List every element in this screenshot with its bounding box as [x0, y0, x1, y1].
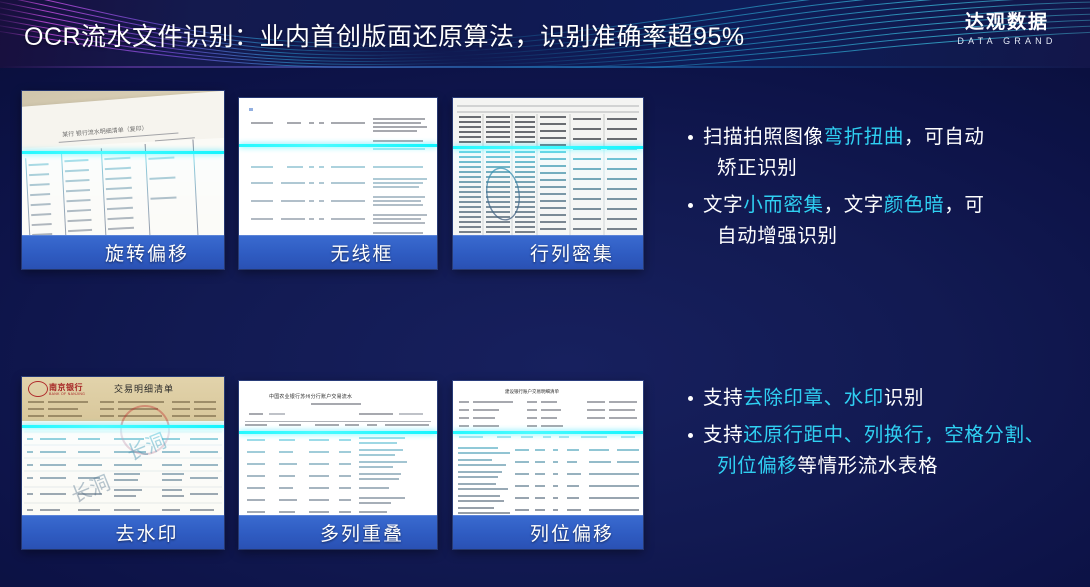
thumbnail-caption-4: 多列重叠 [239, 515, 437, 549]
thumbnail-card-4[interactable]: 中国农业银行苏州分行账户交易流水 [239, 381, 437, 549]
bullet-line: 支持还原行距中、列换行，空格分割、 [703, 420, 1076, 451]
thumbnail-caption-text-4: 多列重叠 [272, 519, 404, 546]
multi-col-title-mock: 中国农业银行苏州分行账户交易流水 [269, 393, 352, 400]
bullet-text: 扫描拍照图像 [703, 126, 824, 148]
thumbnail-card-2[interactable]: 行列密集 [453, 98, 643, 269]
brand-logo-en: DATA GRAND [942, 34, 1072, 48]
bullet-line: 支持去除印章、水印识别 [703, 383, 1076, 414]
slide-header: OCR流水文件识别：业内首创版面还原算法，识别准确率超95% 达观数据 DATA… [0, 0, 1090, 68]
bullet-text: ，可 [944, 194, 984, 216]
bullet-text: 自动增强识别 [717, 225, 838, 247]
bullet-text: 支持 [703, 387, 743, 409]
thumbnail-caption-text-5: 列位偏移 [482, 519, 614, 546]
slide-root: OCR流水文件识别：业内首创版面还原算法，识别准确率超95% 达观数据 DATA… [0, 0, 1090, 587]
statement-title-mock: 交易明细清单 [114, 382, 174, 395]
header-divider [0, 66, 1090, 68]
thumbnail-caption-text-3: 去水印 [67, 519, 178, 546]
col-shift-title-mock: 建设银行账户交易明细清单 [505, 389, 559, 395]
thumbnail-card-5[interactable]: 建设银行账户交易明细清单 [453, 381, 643, 549]
bullet-group-bottom: 支持去除印章、水印识别支持还原行距中、列换行，空格分割、列位偏移等情形流水表格 [686, 383, 1076, 488]
bullet-highlight-text: 颜色暗 [884, 194, 944, 216]
bullet-item: 支持去除印章、水印识别 [686, 383, 1076, 414]
page-title: OCR流水文件识别：业内首创版面还原算法，识别准确率超95% [24, 17, 745, 53]
bullet-text: 矫正识别 [717, 157, 797, 179]
thumbnail-caption-text-2: 行列密集 [482, 239, 614, 266]
thumbnail-card-1[interactable]: 无线框 [239, 98, 437, 269]
bullet-highlight-text: 弯折扭曲 [824, 126, 904, 148]
thumbnail-caption-5: 列位偏移 [453, 515, 643, 549]
bullet-item: 文字小而密集，文字颜色暗，可自动增强识别 [686, 190, 1076, 252]
bullet-highlight-text: 去除印章、水印 [743, 387, 884, 409]
bullet-group-top: 扫描拍照图像弯折扭曲，可自动矫正识别文字小而密集，文字颜色暗，可自动增强识别 [686, 122, 1076, 258]
bullet-highlight-text: 还原行距中、列换行，空格分割、 [743, 424, 1045, 446]
bullet-highlight-text: 小而密集 [743, 194, 823, 216]
brand-logo-cn: 达观数据 [942, 12, 1072, 34]
bullet-line: 自动增强识别 [703, 221, 1076, 252]
bullet-line: 列位偏移等情形流水表格 [703, 451, 1076, 482]
bullet-text: 识别 [884, 387, 924, 409]
brand-logo: 达观数据 DATA GRAND [942, 12, 1072, 48]
bullet-item: 扫描拍照图像弯折扭曲，可自动矫正识别 [686, 122, 1076, 184]
bullet-line: 文字小而密集，文字颜色暗，可 [703, 190, 1076, 221]
bullet-text: 等情形流水表格 [797, 455, 938, 477]
bullet-item: 支持还原行距中、列换行，空格分割、列位偏移等情形流水表格 [686, 420, 1076, 482]
bullet-text: ，可自动 [904, 126, 984, 148]
bank-name-en-mock: BANK OF NANJING [49, 392, 85, 396]
thumbnail-caption-text-1: 无线框 [282, 239, 393, 266]
thumbnail-caption-text-0: 旋转偏移 [57, 239, 189, 266]
thumbnail-caption-3: 去水印 [22, 515, 224, 549]
bullet-highlight-text: 列位偏移 [717, 455, 797, 477]
bullet-text: 支持 [703, 424, 743, 446]
bullet-text: ，文字 [824, 194, 884, 216]
thumbnail-caption-0: 旋转偏移 [22, 235, 224, 269]
thumbnail-card-3[interactable]: 南京银行 BANK OF NANJING 交易明细清单 [22, 377, 224, 549]
thumbnail-caption-1: 无线框 [239, 235, 437, 269]
bullet-text: 文字 [703, 194, 743, 216]
thumbnail-caption-2: 行列密集 [453, 235, 643, 269]
thumbnail-card-0[interactable]: 某行 银行流水明细清单（复印） [22, 91, 224, 269]
bullet-line: 扫描拍照图像弯折扭曲，可自动 [703, 122, 1076, 153]
bullet-line: 矫正识别 [703, 153, 1076, 184]
